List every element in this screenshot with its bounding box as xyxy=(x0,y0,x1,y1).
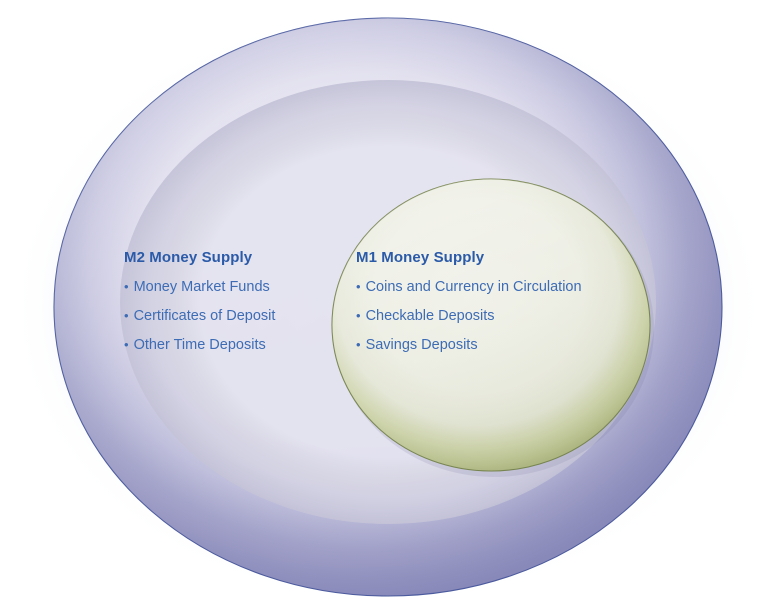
m2-bullet-list: • Money Market Funds • Certificates of D… xyxy=(124,279,324,353)
m1-group-title: M1 Money Supply xyxy=(356,249,631,266)
bullet-dot-icon: • xyxy=(356,279,361,295)
m2-list-item: • Certificates of Deposit xyxy=(124,308,324,324)
m1-list-item-label: Coins and Currency in Circulation xyxy=(366,279,582,295)
bullet-dot-icon: • xyxy=(124,337,129,353)
m1-list-item: • Savings Deposits xyxy=(356,337,631,353)
m2-group-block: M2 Money Supply • Money Market Funds • C… xyxy=(124,249,324,353)
m1-list-item: • Coins and Currency in Circulation xyxy=(356,279,631,295)
m2-list-item: • Money Market Funds xyxy=(124,279,324,295)
m2-list-item-label: Certificates of Deposit xyxy=(134,308,276,324)
m2-group-title: M2 Money Supply xyxy=(124,249,324,266)
money-supply-diagram: M2 Money Supply • Money Market Funds • C… xyxy=(0,0,780,612)
m1-group-block: M1 Money Supply • Coins and Currency in … xyxy=(356,249,631,353)
bullet-dot-icon: • xyxy=(124,308,129,324)
bullet-dot-icon: • xyxy=(356,337,361,353)
m1-bullet-list: • Coins and Currency in Circulation • Ch… xyxy=(356,279,631,353)
m1-list-item-label: Savings Deposits xyxy=(366,337,478,353)
m2-list-item: • Other Time Deposits xyxy=(124,337,324,353)
bullet-dot-icon: • xyxy=(124,279,129,295)
diagram-text-layer: M2 Money Supply • Money Market Funds • C… xyxy=(0,0,780,612)
m2-list-item-label: Other Time Deposits xyxy=(134,337,266,353)
m1-list-item-label: Checkable Deposits xyxy=(366,308,495,324)
m2-list-item-label: Money Market Funds xyxy=(134,279,270,295)
m1-list-item: • Checkable Deposits xyxy=(356,308,631,324)
bullet-dot-icon: • xyxy=(356,308,361,324)
